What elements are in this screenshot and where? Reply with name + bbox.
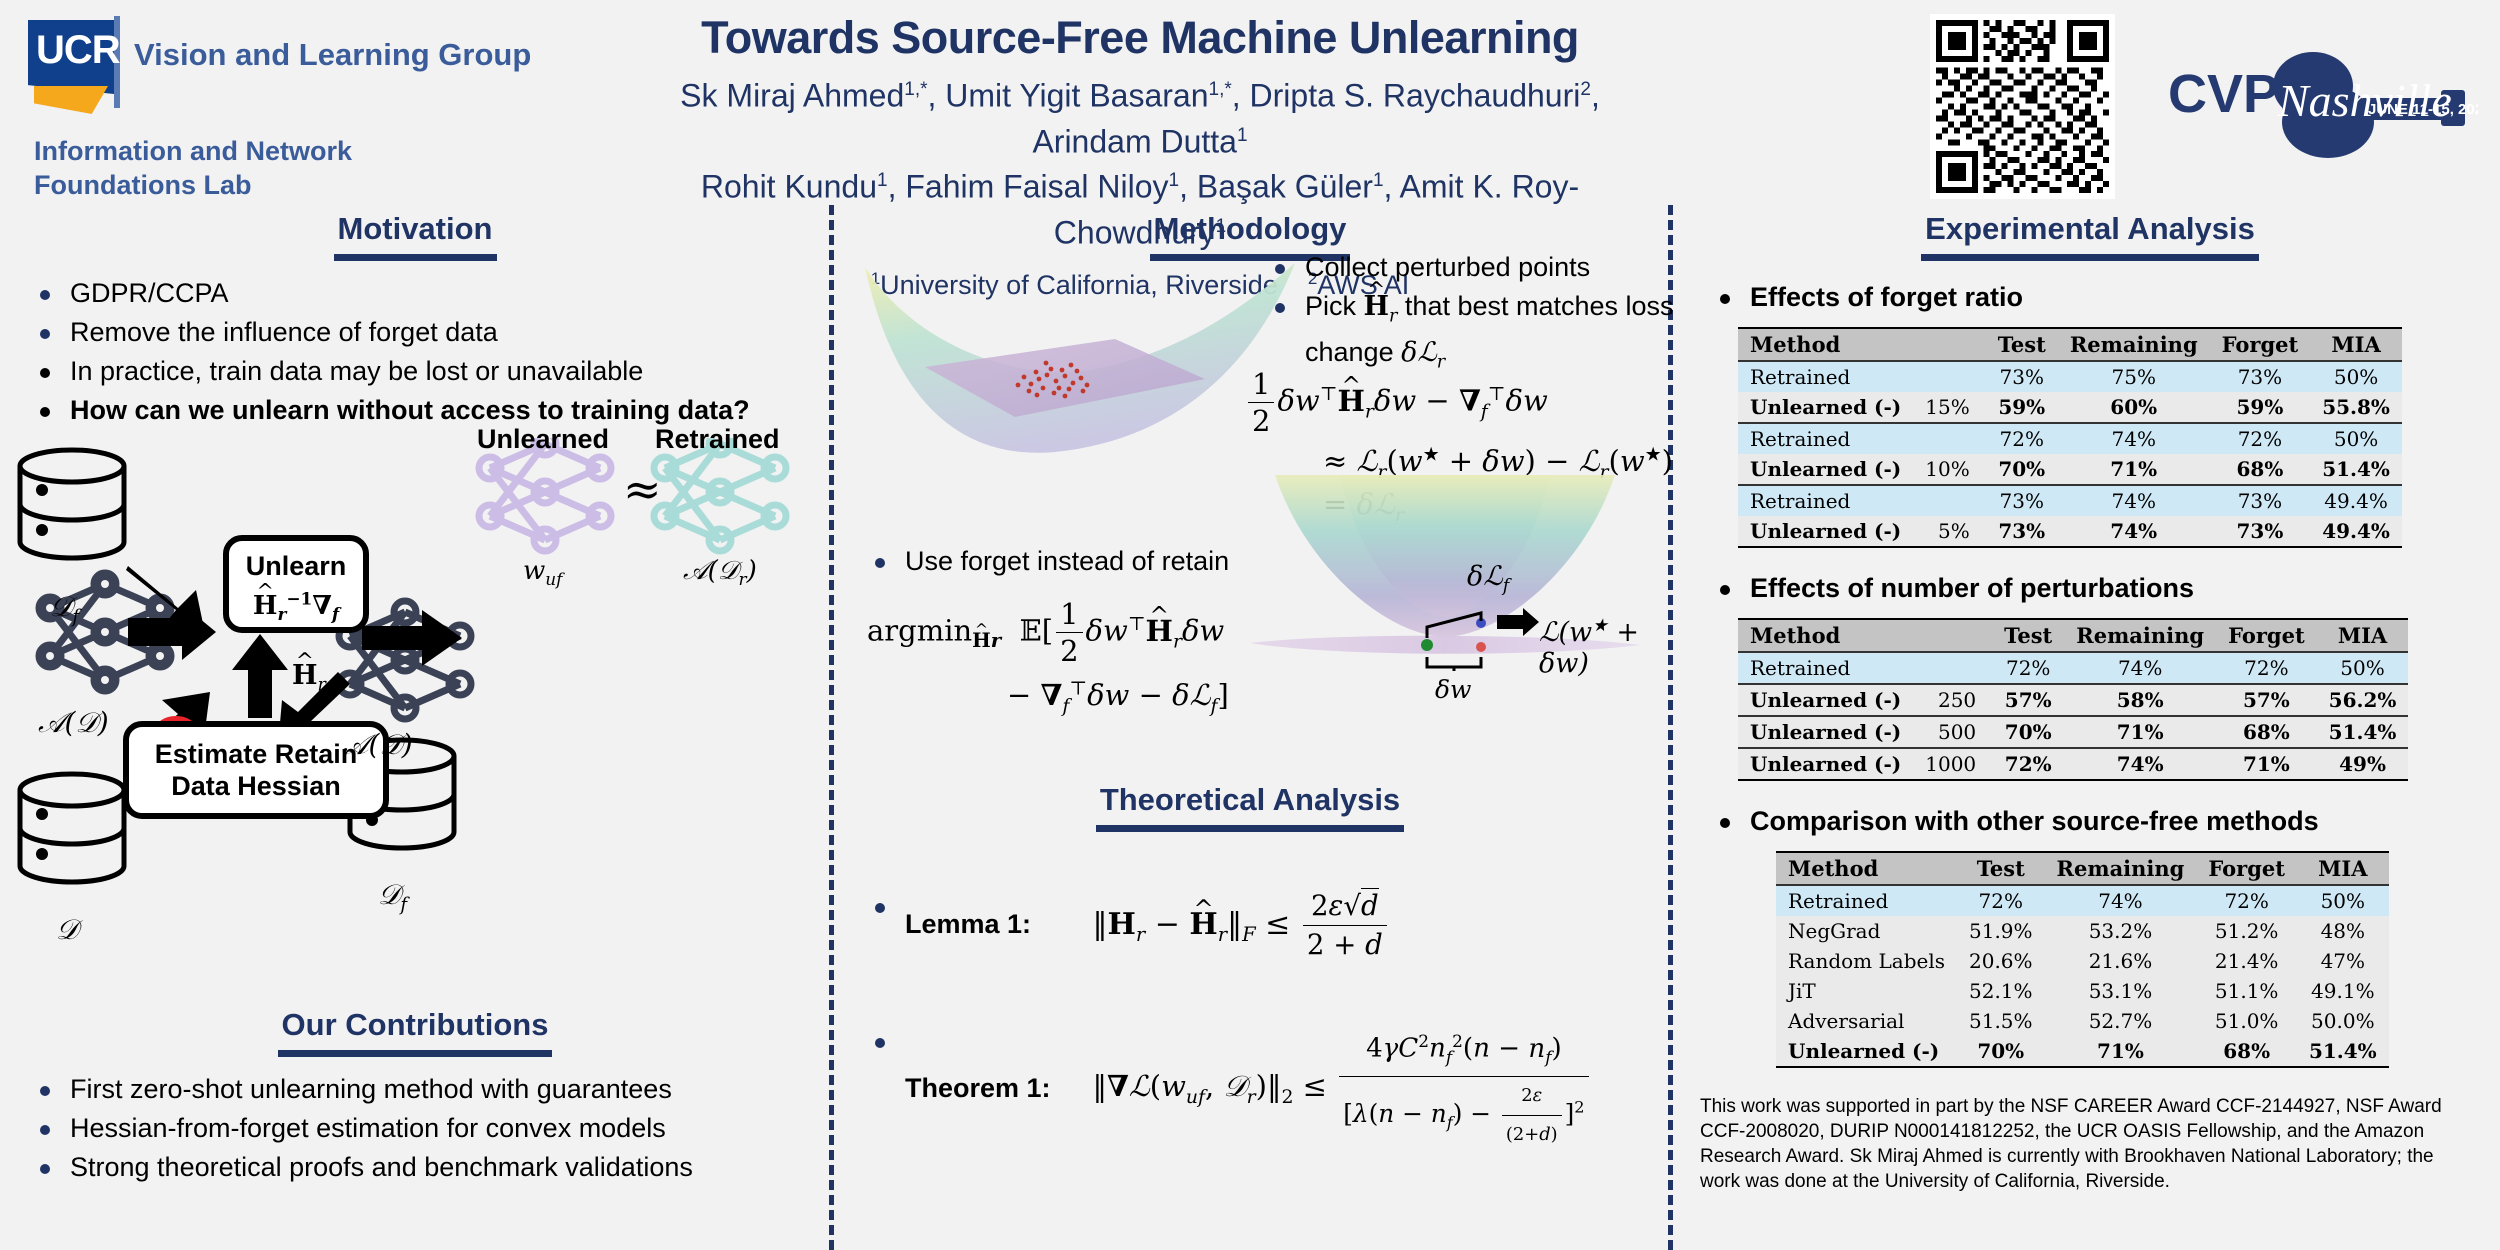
motivation-bullet-list: GDPR/CCPA Remove the influence of forget… bbox=[10, 275, 820, 428]
list-item: Comparison with other source-free method… bbox=[1716, 803, 2490, 839]
col-header bbox=[1913, 619, 1992, 652]
table-row: Unlearned (-) 5% 73% 74% 73% 49.4% bbox=[1738, 516, 2402, 547]
table-row: Retrained 72% 74% 72% 50% bbox=[1738, 652, 2408, 684]
list-item: Remove the influence of forget data bbox=[36, 314, 820, 350]
label-df-bottom: 𝒟f bbox=[378, 878, 407, 916]
list-item: In practice, train data may be lost or u… bbox=[36, 353, 820, 389]
table-perturbations: Method Test Remaining Forget MIA Retrain… bbox=[1738, 618, 2408, 781]
col-header: Method bbox=[1776, 852, 1957, 885]
list-item: Effects of number of perturbations bbox=[1716, 570, 2490, 606]
label-df-top: 𝒟f bbox=[50, 590, 79, 628]
table-forget-ratio-wrap: Method Test Remaining Forget MIA Retrain… bbox=[1738, 327, 2490, 548]
table-row: Retrained 73% 75% 73% 50% bbox=[1738, 361, 2402, 392]
pipeline-figure-graphics bbox=[10, 438, 810, 998]
lemma-1-equation: ‖Hr − H^r‖F ≤ 2ε√d2 + d bbox=[1093, 907, 1390, 942]
label-w-uf: wuf bbox=[523, 556, 562, 589]
experiments-sub-1: Effects of forget ratio bbox=[1690, 279, 2490, 315]
list-item: GDPR/CCPA bbox=[36, 275, 820, 311]
annotation-delta-w: δw bbox=[1435, 675, 1471, 704]
experiments-sub-2: Effects of number of perturbations bbox=[1690, 570, 2490, 606]
label-a-d-left: 𝒜(𝒟) bbox=[38, 706, 109, 740]
col-header: Test bbox=[1986, 328, 2058, 361]
theorem-1-equation: ‖∇ℒ(wuf, 𝒟r)‖2 ≤ 4γC2nf2(n − nf) [λ(n − … bbox=[1093, 1069, 1592, 1103]
database-full-icon bbox=[20, 774, 124, 882]
saddle-surface-figure bbox=[825, 257, 1305, 487]
list-item: First zero-shot unlearning method with g… bbox=[36, 1071, 820, 1107]
lemma-1-row: Lemma 1: ‖Hr − H^r‖F ≤ 2ε√d2 + d bbox=[871, 888, 1655, 963]
ucr-branding: UCR Vision and Learning Group Informatio… bbox=[28, 16, 528, 202]
table-body: Retrained 72% 74% 72% 50% NegGrad 51.9% … bbox=[1776, 885, 2389, 1067]
col-header: MIA bbox=[2310, 328, 2402, 361]
column-left: Motivation GDPR/CCPA Remove the influenc… bbox=[10, 210, 820, 1250]
theorem-1-row: Theorem 1: ‖∇ℒ(wuf, 𝒟r)‖2 ≤ 4γC2nf2(n − … bbox=[871, 1023, 1655, 1153]
col-header bbox=[1913, 328, 1985, 361]
col-header: Remaining bbox=[2045, 852, 2197, 885]
table-row: Retrained 72% 74% 72% 50% bbox=[1738, 423, 2402, 454]
table-row: Unlearned (-) 10% 70% 71% 68% 51.4% bbox=[1738, 454, 2402, 485]
col-header: Forget bbox=[2210, 328, 2311, 361]
section-heading-theory: Theoretical Analysis bbox=[845, 781, 1655, 832]
acknowledgment-text: This work was supported in part by the N… bbox=[1700, 1094, 2470, 1194]
section-heading-experiments: Experimental Analysis bbox=[1690, 210, 2490, 261]
col-header: Forget bbox=[2216, 619, 2317, 652]
table-row: NegGrad 51.9% 53.2% 51.2% 48% bbox=[1776, 916, 2389, 946]
table-group: Unlearned (-) 500 70% 71% 68% 51.4% bbox=[1738, 716, 2408, 748]
cvpr-dates-label: JUNE 11-15, 2025 bbox=[2368, 101, 2478, 118]
qr-code[interactable] bbox=[1930, 14, 2115, 199]
table-row: Retrained 72% 74% 72% 50% bbox=[1776, 885, 2389, 916]
ucr-logo-text: UCR bbox=[36, 30, 112, 70]
label-unlearned: Unlearned bbox=[477, 424, 609, 455]
table-row: Random Labels 20.6% 21.6% 21.4% 47% bbox=[1776, 946, 2389, 976]
table-group: Retrained 72% 74% 72% 50% bbox=[1738, 652, 2408, 684]
author-line-1: Sk Miraj Ahmed1,*, Umit Yigit Basaran1,*… bbox=[620, 70, 1660, 161]
contributions-bullet-list: First zero-shot unlearning method with g… bbox=[10, 1071, 820, 1185]
col-header: Remaining bbox=[2064, 619, 2216, 652]
unlearn-box-label: Unlearn H^r−1∇f bbox=[226, 550, 366, 630]
table-comparison-wrap: Method Test Remaining Forget MIA Retrain… bbox=[1776, 851, 2490, 1068]
methodology-bullet-list-top: Collect perturbed points Pick H^r that b… bbox=[1245, 249, 1691, 384]
approx-symbol: ≈ bbox=[623, 462, 662, 516]
lemma-1-label: Lemma 1: bbox=[905, 906, 1085, 942]
table-row: Unlearned (-) 70% 71% 68% 51.4% bbox=[1776, 1036, 2389, 1067]
list-item: Collect perturbed points bbox=[1271, 249, 1691, 285]
annotation-loss-perturbed: ℒ(w★ + δw) bbox=[1539, 616, 1655, 679]
label-hessian-r: H^r bbox=[292, 660, 326, 695]
theory-bullet-list: Lemma 1: ‖Hr − H^r‖F ≤ 2ε√d2 + d Theorem… bbox=[845, 888, 1655, 1153]
list-item: Strong theoretical proofs and benchmark … bbox=[36, 1149, 820, 1185]
label-d: 𝒟 bbox=[56, 913, 78, 947]
list-item: Effects of forget ratio bbox=[1716, 279, 2490, 315]
cvpr-logo: CVPR Nashville JUNE 11-15, 2025 bbox=[2168, 40, 2478, 160]
table-group: Retrained 73% 74% 73% 49.4% Unlearned (-… bbox=[1738, 485, 2402, 547]
column-right: Experimental Analysis Effects of forget … bbox=[1690, 210, 2490, 1250]
lab-name-line2: Foundations Lab bbox=[34, 168, 528, 202]
col-header: Method bbox=[1738, 619, 1913, 652]
table-group: Retrained 72% 74% 72% 50% Unlearned (-) … bbox=[1738, 423, 2402, 485]
table-comparison: Method Test Remaining Forget MIA Retrain… bbox=[1776, 851, 2389, 1068]
col-header: Remaining bbox=[2058, 328, 2210, 361]
table-row: Unlearned (-) 1000 72% 74% 71% 49% bbox=[1738, 748, 2408, 780]
group-title: Vision and Learning Group bbox=[134, 16, 531, 72]
col-header: Method bbox=[1738, 328, 1913, 361]
table-forget-ratio: Method Test Remaining Forget MIA Retrain… bbox=[1738, 327, 2402, 548]
column-middle: Methodology bbox=[845, 210, 1655, 1250]
col-header: Test bbox=[1957, 852, 2045, 885]
database-forget-top-icon bbox=[20, 450, 124, 558]
theorem-1-label: Theorem 1: bbox=[905, 1070, 1085, 1106]
label-a-dr: 𝒜(𝒟r) bbox=[683, 556, 757, 589]
lab-name-line1: Information and Network bbox=[34, 134, 528, 168]
annotation-delta-Lf: δℒf bbox=[1467, 561, 1509, 596]
poster-root: UCR Vision and Learning Group Informatio… bbox=[0, 0, 2500, 1250]
table-row: JiT 52.1% 53.1% 51.1% 49.1% bbox=[1776, 976, 2389, 1006]
table-row: Unlearned (-) 250 57% 58% 57% 56.2% bbox=[1738, 684, 2408, 716]
table-row: Unlearned (-) 15% 59% 60% 59% 55.8% bbox=[1738, 392, 2402, 423]
col-header: MIA bbox=[2297, 852, 2389, 885]
pipeline-figure: 𝒟f 𝒜(𝒟) 𝒟 𝒟f 𝒜(𝒟) Unlearn H^r−1∇f Estima… bbox=[10, 438, 810, 998]
col-header: MIA bbox=[2317, 619, 2409, 652]
page-title: Towards Source-Free Machine Unlearning bbox=[620, 10, 1660, 66]
col-header: Forget bbox=[2196, 852, 2297, 885]
estimate-box-label: Estimate Retain Data Hessian bbox=[126, 738, 386, 802]
table-row: Retrained 73% 74% 73% 49.4% bbox=[1738, 485, 2402, 516]
table-row: Unlearned (-) 500 70% 71% 68% 51.4% bbox=[1738, 716, 2408, 748]
cvpr-logo-icon: CVPR Nashville JUNE 11-15, 2025 bbox=[2168, 40, 2478, 160]
equation-argmin: argminH^r 𝔼[12δw⊤H^rδw − ∇f⊤δw − δℒf] bbox=[867, 597, 1229, 717]
qr-code-icon bbox=[1936, 20, 2109, 193]
section-heading-contributions: Our Contributions bbox=[10, 1006, 820, 1057]
table-group: Unlearned (-) 250 57% 58% 57% 56.2% bbox=[1738, 684, 2408, 716]
table-group: Retrained 73% 75% 73% 50% Unlearned (-) … bbox=[1738, 361, 2402, 423]
table-perturbations-wrap: Method Test Remaining Forget MIA Retrain… bbox=[1738, 618, 2490, 781]
poster-header: UCR Vision and Learning Group Informatio… bbox=[0, 0, 2500, 205]
table-row: Adversarial 51.5% 52.7% 51.0% 50.0% bbox=[1776, 1006, 2389, 1036]
experiments-sub-3: Comparison with other source-free method… bbox=[1690, 803, 2490, 839]
section-heading-motivation: Motivation bbox=[10, 210, 820, 261]
list-item: How can we unlearn without access to tra… bbox=[36, 392, 820, 428]
list-item: Hessian-from-forget estimation for conve… bbox=[36, 1110, 820, 1146]
table-group: Unlearned (-) 1000 72% 74% 71% 49% bbox=[1738, 748, 2408, 780]
ucr-logo-icon: UCR bbox=[28, 16, 120, 112]
col-header: Test bbox=[1992, 619, 2064, 652]
label-retrained: Retrained bbox=[655, 424, 780, 455]
